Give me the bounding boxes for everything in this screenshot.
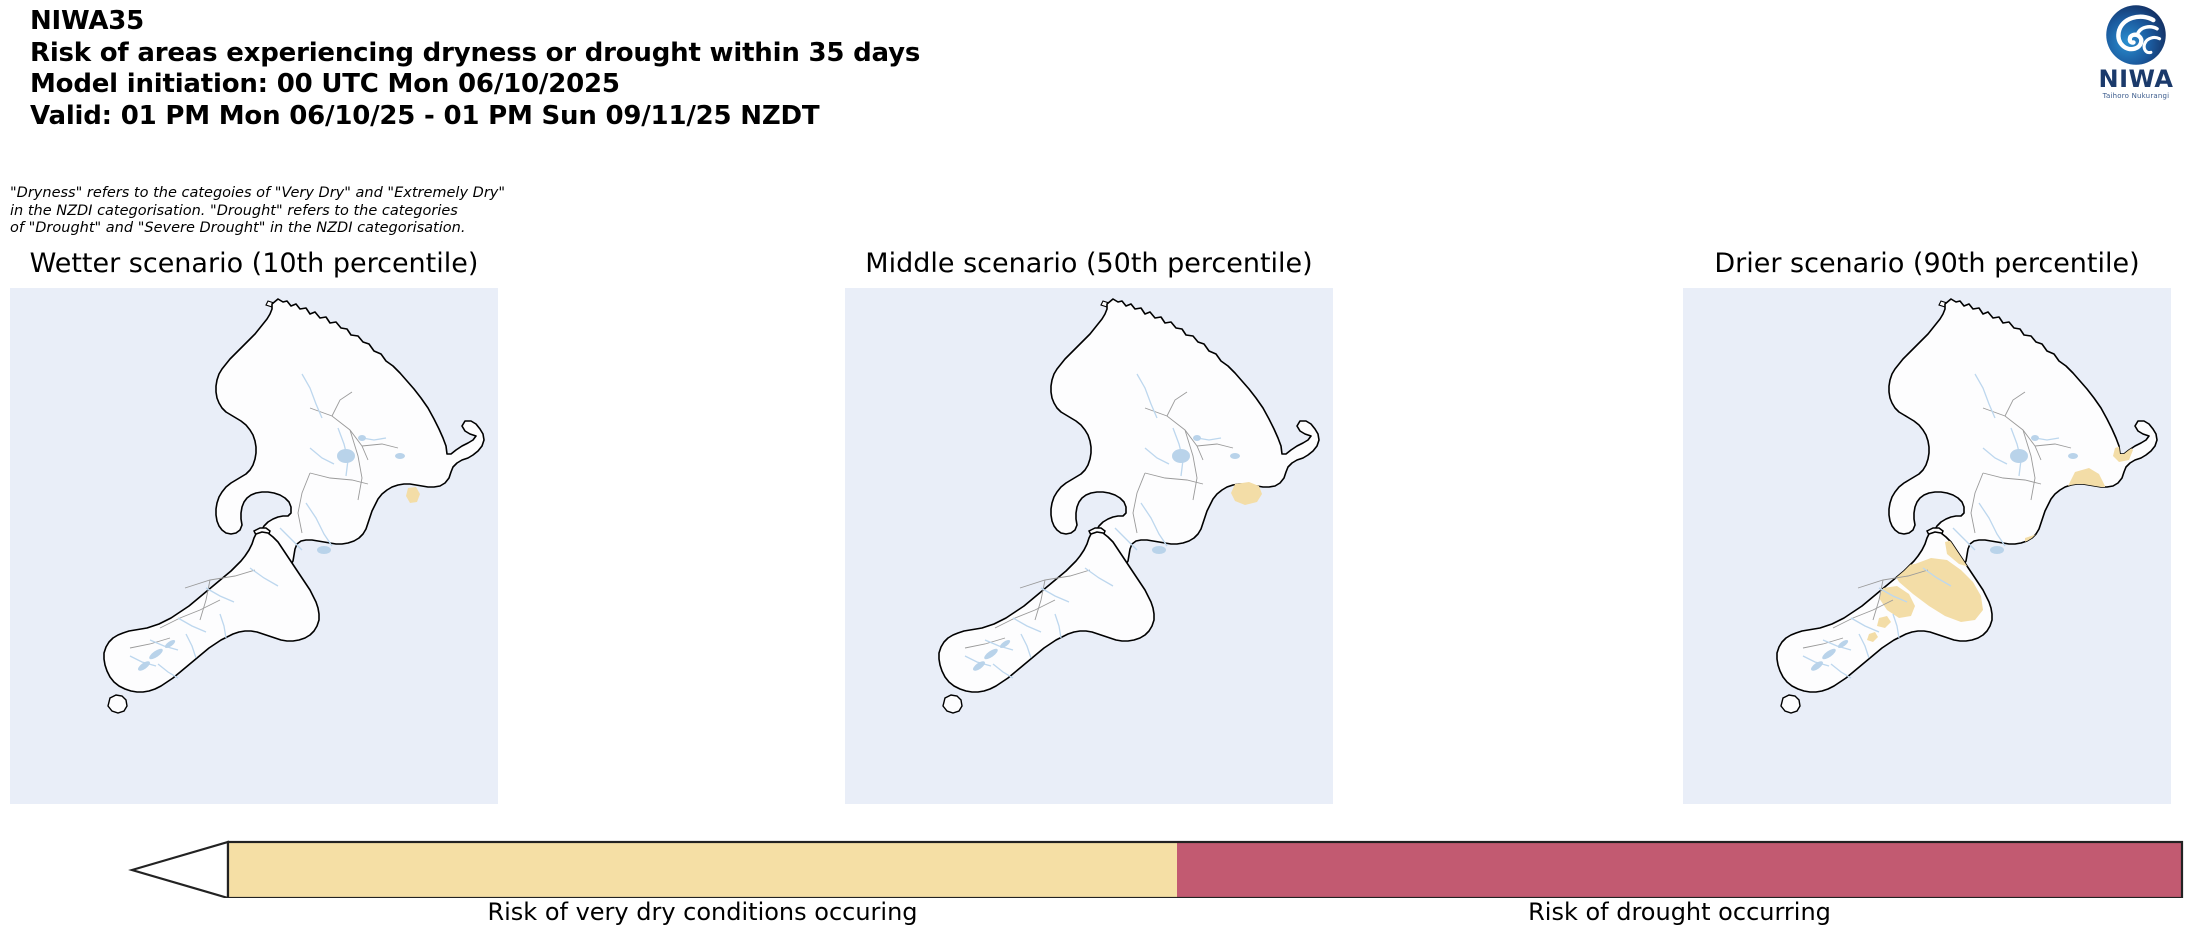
map-layer-dry-risk [406, 487, 420, 503]
disclaimer-line-3: of "Drought" and "Severe Drought" in the… [10, 220, 710, 238]
niwa-subtitle: Taihoro Nukurangi [2088, 92, 2184, 101]
header-line-model-initiation: Model initiation: 00 UTC Mon 06/10/2025 [30, 69, 1430, 101]
header-line-title: Risk of areas experiencing dryness or dr… [30, 38, 1430, 70]
map-layer-dry-risk [1231, 482, 1262, 505]
disclaimer-note: "Dryness" refers to the categoies of "Ve… [10, 185, 710, 238]
colorbar-graphic [0, 838, 2198, 898]
header-line-product: NIWA35 [30, 6, 1430, 38]
colorbar-left-arrow [132, 842, 228, 898]
panel-title-drier: Drier scenario (90th percentile) [1683, 248, 2171, 280]
map-canvas-middle[interactable] [845, 288, 1333, 804]
disclaimer-line-1: "Dryness" refers to the categoies of "Ve… [10, 185, 710, 203]
panel-title-wetter: Wetter scenario (10th percentile) [10, 248, 498, 280]
map-panel-middle: Middle scenario (50th percentile) [845, 288, 1333, 804]
colorbar-label-drought: Risk of drought occurring [1177, 898, 2182, 926]
legend-colorbar: Risk of very dry conditions occuring Ris… [0, 838, 2198, 932]
colorbar-segment-drought [1177, 842, 2182, 898]
nz-map-wetter [10, 288, 498, 804]
colorbar-label-very-dry: Risk of very dry conditions occuring [228, 898, 1177, 926]
disclaimer-line-2: in the NZDI categorisation. "Drought" re… [10, 203, 710, 221]
map-panel-wetter: Wetter scenario (10th percentile) [10, 288, 498, 804]
niwa-logo: NIWA Taihoro Nukurangi [2088, 4, 2184, 108]
panel-title-middle: Middle scenario (50th percentile) [845, 248, 1333, 280]
header-text-block: NIWA35 Risk of areas experiencing drynes… [30, 6, 1430, 132]
niwa-wordmark: NIWA [2088, 67, 2184, 91]
niwa-koru-icon [2105, 4, 2167, 66]
nz-map-drier [1683, 288, 2171, 804]
map-panel-drier: Drier scenario (90th percentile) [1683, 288, 2171, 804]
map-canvas-drier[interactable] [1683, 288, 2171, 804]
header-line-valid-period: Valid: 01 PM Mon 06/10/25 - 01 PM Sun 09… [30, 101, 1430, 133]
colorbar-segment-very-dry [228, 842, 1177, 898]
map-canvas-wetter[interactable] [10, 288, 498, 804]
nz-map-middle [845, 288, 1333, 804]
